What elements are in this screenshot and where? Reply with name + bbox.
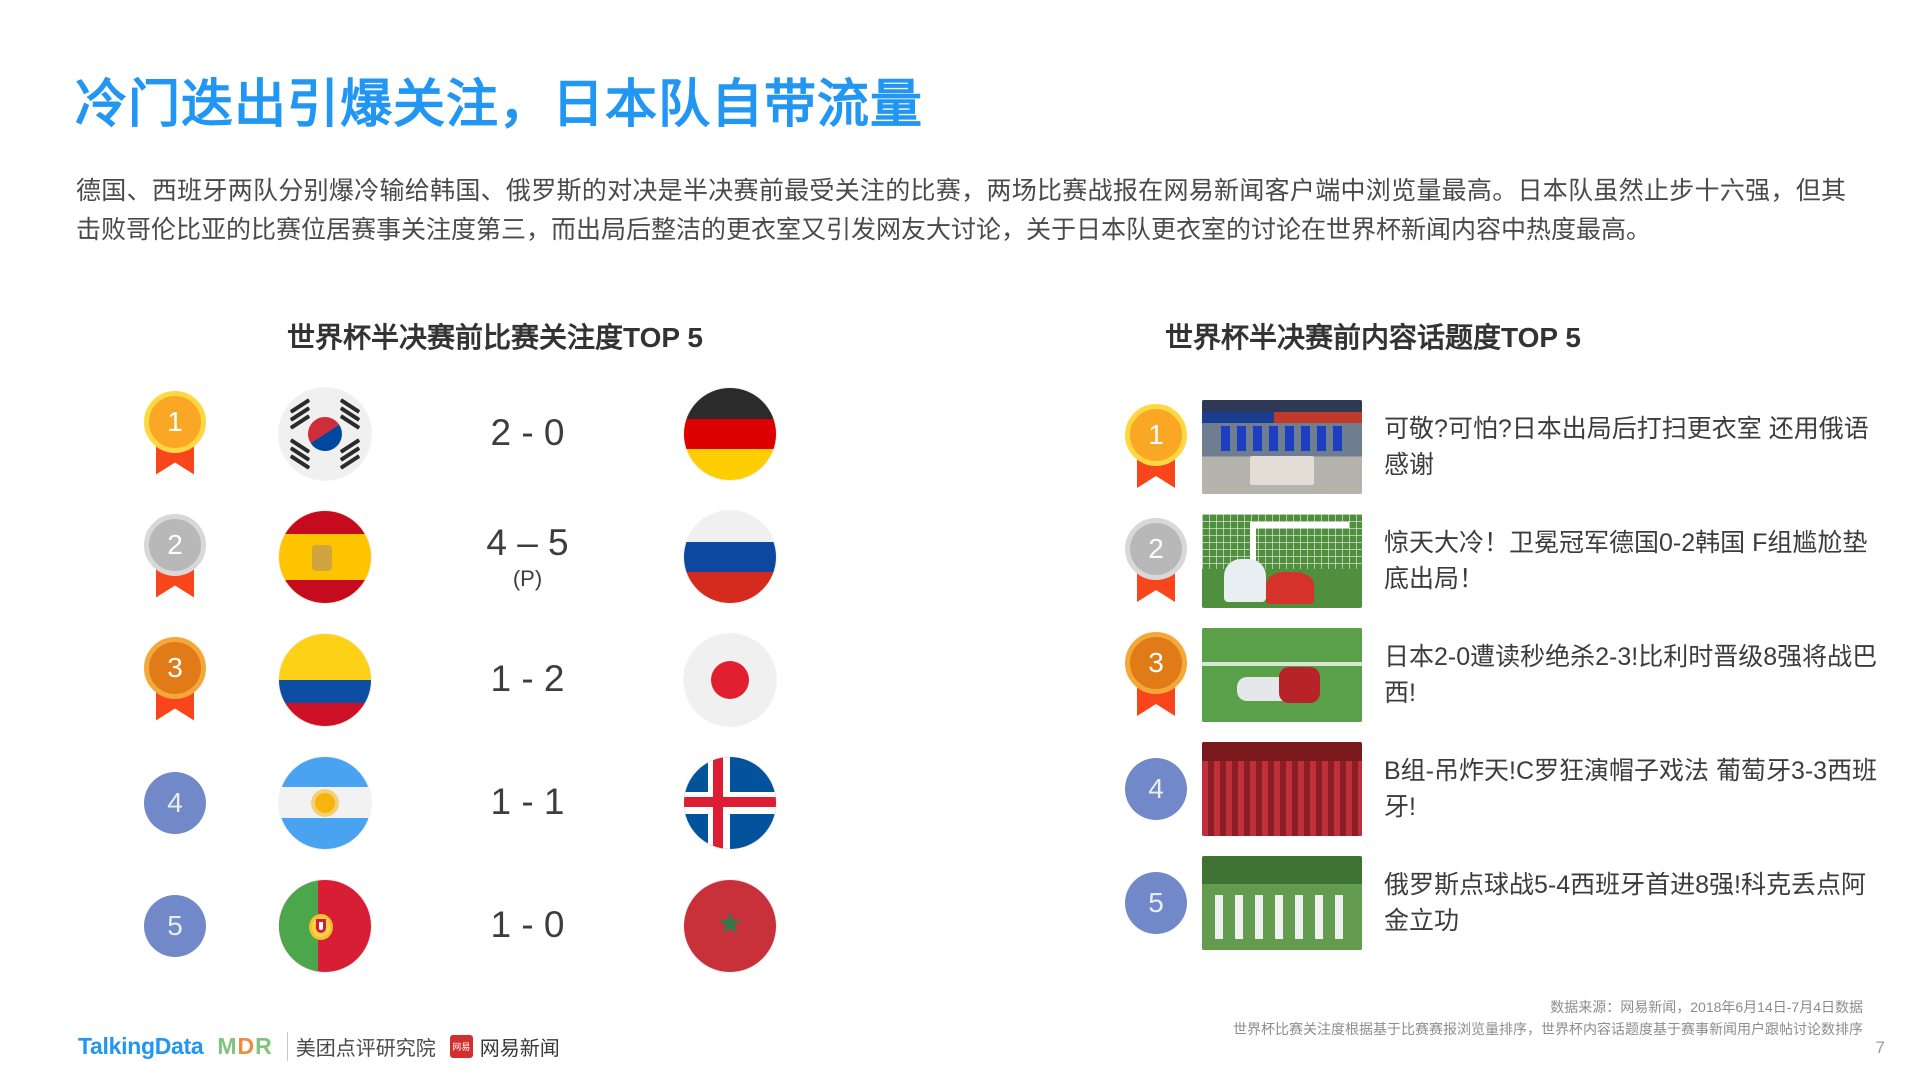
talkingdata-logo: TalkingData [78,1033,203,1060]
rank-badge: 4 [1125,758,1187,820]
page-title: 冷门迭出引爆关注，日本队自带流量 [75,62,923,137]
germany-flag-icon [684,388,776,480]
match-row: 2 4 – 5 (P) [120,495,920,618]
rank-badge: 5 [144,895,206,957]
medal-silver-icon: 2 [1125,518,1187,604]
match-score: 2 - 0 [420,412,635,455]
slide-root: 冷门迭出引爆关注，日本队自带流量 德国、西班牙两队分别爆冷输给韩国、俄罗斯的对决… [0,0,1921,1080]
rank-number: 2 [144,514,206,576]
topic-row[interactable]: 5 俄罗斯点球战5-4西班牙首进8强!科克丢点阿金立功 [1110,846,1890,960]
match-score: 1 - 1 [420,781,635,824]
medal-bronze-icon: 3 [1125,632,1187,718]
footer-logos: TalkingData MDR 美团点评研究院 网易 网易新闻 [78,1032,560,1061]
rank-cell: 2 [120,514,230,600]
away-flag-cell [635,388,825,480]
left-section-heading: 世界杯半决赛前比赛关注度TOP 5 [287,316,703,356]
mdr-logo-name: 美团点评研究院 [287,1032,436,1061]
match-score: 1 - 0 [420,904,635,947]
score-text: 1 - 0 [490,904,564,945]
home-flag-cell [230,880,420,972]
medal-gold-icon: 1 [1125,404,1187,490]
home-flag-cell [230,634,420,726]
japan-flag-icon [684,634,776,726]
source-line-2: 世界杯比赛关注度根据基于比赛赛报浏览量排序，世界杯内容话题度基于赛事新闻用户跟帖… [1233,1018,1863,1040]
russia-flag-icon [684,511,776,603]
rank-badge: 5 [1125,872,1187,934]
medal-gold-icon: 1 [144,391,206,477]
match-row: 1 [120,372,920,495]
rank-cell: 1 [1110,404,1202,490]
medal-silver-icon: 2 [144,514,206,600]
portugal-flag-icon [279,880,371,972]
home-flag-cell [230,388,420,480]
topic-row[interactable]: 3 日本2-0遭读秒绝杀2-3!比利时晋级8强将战巴西! [1110,618,1890,732]
topic-thumbnail [1202,628,1362,722]
topic-thumbnail [1202,856,1362,950]
netease-badge-icon: 网易 [450,1035,473,1058]
penalty-note: (P) [420,566,635,591]
topic-headline[interactable]: 可敬?可怕?日本出局后打扫更衣室 还用俄语感谢 [1362,411,1890,483]
away-flag-cell [635,511,825,603]
topic-headline[interactable]: 惊天大冷！卫冕冠军德国0-2韩国 F组尴尬垫底出局！ [1362,525,1890,597]
colombia-flag-icon [279,634,371,726]
spain-flag-icon [279,511,371,603]
netease-logo: 网易 网易新闻 [450,1032,560,1061]
topic-headline[interactable]: 日本2-0遭读秒绝杀2-3!比利时晋级8强将战巴西! [1362,639,1890,711]
match-score: 1 - 2 [420,658,635,701]
morocco-flag-icon: ★ [684,880,776,972]
match-row: 5 1 - 0 ★ [120,864,920,987]
topic-list: 1 可敬?可怕?日本出局后打扫更衣室 还用俄语感谢 2 惊天大冷！卫冕冠军德国0… [1110,390,1890,960]
rank-cell: 5 [120,895,230,957]
topic-headline[interactable]: 俄罗斯点球战5-4西班牙首进8强!科克丢点阿金立功 [1362,867,1890,939]
rank-number: 4 [167,787,183,819]
medal-bronze-icon: 3 [144,637,206,723]
match-row: 3 1 - 2 [120,618,920,741]
away-flag-cell [635,757,825,849]
topic-row[interactable]: 1 可敬?可怕?日本出局后打扫更衣室 还用俄语感谢 [1110,390,1890,504]
match-row: 4 1 - 1 [120,741,920,864]
iceland-flag-icon [684,757,776,849]
rank-number: 2 [1125,518,1187,580]
source-line-1: 数据来源：网易新闻，2018年6月14日-7月4日数据 [1233,996,1863,1018]
rank-cell: 5 [1110,872,1202,934]
rank-number: 1 [144,391,206,453]
mdr-logo-mark: MDR [217,1033,272,1060]
topic-thumbnail [1202,742,1362,836]
score-text: 2 - 0 [490,412,564,453]
right-section-heading: 世界杯半决赛前内容话题度TOP 5 [1165,316,1581,356]
rank-cell: 3 [1110,632,1202,718]
rank-number: 5 [1148,887,1164,919]
rank-cell: 1 [120,391,230,477]
rank-number: 1 [1125,404,1187,466]
topic-row[interactable]: 2 惊天大冷！卫冕冠军德国0-2韩国 F组尴尬垫底出局！ [1110,504,1890,618]
home-flag-cell [230,511,420,603]
score-text: 1 - 2 [490,658,564,699]
away-flag-cell: ★ [635,880,825,972]
match-score: 4 – 5 (P) [420,522,635,592]
topic-row[interactable]: 4 B组-吊炸天!C罗狂演帽子戏法 葡萄牙3-3西班牙! [1110,732,1890,846]
netease-logo-name: 网易新闻 [480,1032,560,1061]
score-text: 1 - 1 [490,781,564,822]
rank-cell: 4 [1110,758,1202,820]
home-flag-cell [230,757,420,849]
away-flag-cell [635,634,825,726]
topic-thumbnail [1202,514,1362,608]
rank-number: 5 [167,910,183,942]
topic-headline[interactable]: B组-吊炸天!C罗狂演帽子戏法 葡萄牙3-3西班牙! [1362,753,1890,825]
rank-number: 3 [144,637,206,699]
intro-paragraph: 德国、西班牙两队分别爆冷输给韩国、俄罗斯的对决是半决赛前最受关注的比赛，两场比赛… [76,172,1846,250]
score-text: 4 – 5 [486,522,568,563]
topic-thumbnail [1202,400,1362,494]
rank-cell: 4 [120,772,230,834]
rank-number: 3 [1125,632,1187,694]
match-list: 1 [120,372,920,987]
rank-badge: 4 [144,772,206,834]
rank-cell: 2 [1110,518,1202,604]
page-number: 7 [1876,1038,1885,1058]
rank-cell: 3 [120,637,230,723]
argentina-flag-icon [279,757,371,849]
korea-flag-icon [279,388,371,480]
rank-number: 4 [1148,773,1164,805]
source-note: 数据来源：网易新闻，2018年6月14日-7月4日数据 世界杯比赛关注度根据基于… [1233,996,1863,1040]
